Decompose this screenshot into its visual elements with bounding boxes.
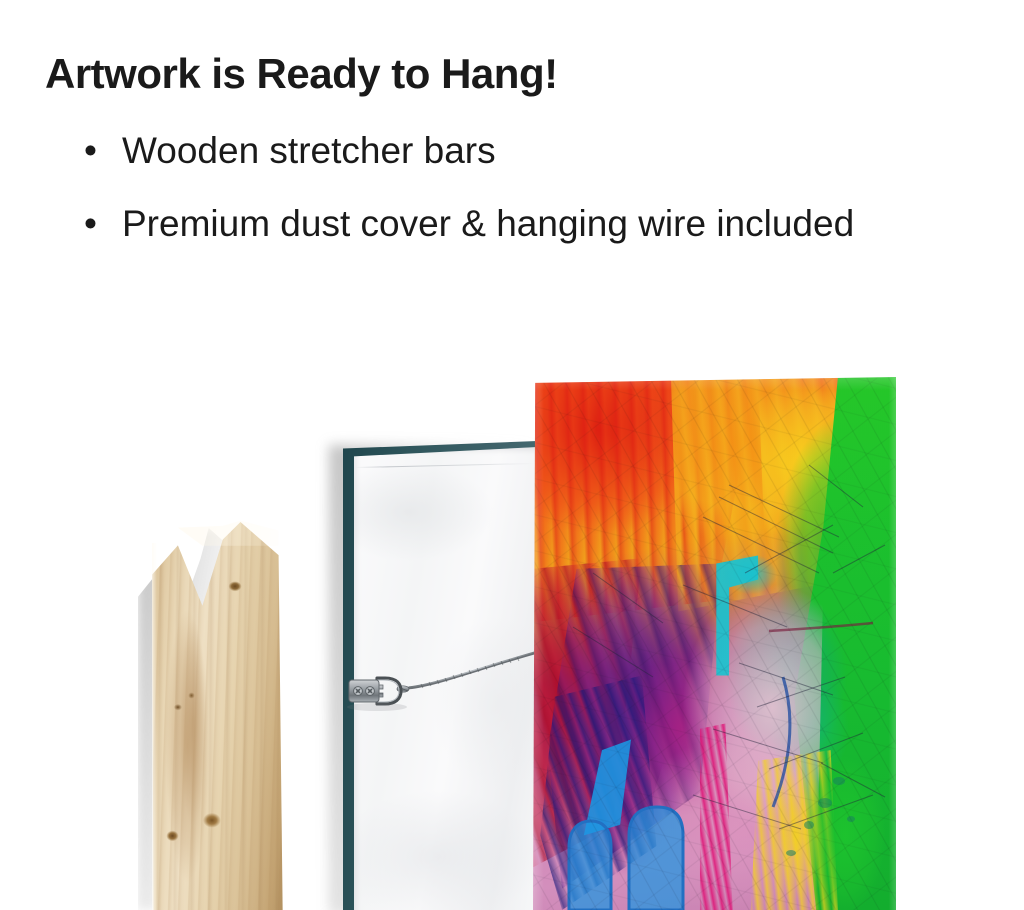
art-scribble-overlay [533, 377, 896, 910]
list-item-label: Premium dust cover & hanging wire includ… [122, 203, 854, 244]
canvas-artwork-image [533, 377, 896, 910]
hanger-shadow [347, 703, 407, 711]
list-item: • Premium dust cover & hanging wire incl… [80, 205, 854, 242]
bullet-icon: • [84, 132, 97, 169]
stretcher-bar-image [148, 520, 284, 910]
feature-list: • Wooden stretcher bars • Premium dust c… [80, 132, 854, 278]
d-ring [377, 678, 401, 704]
hanger-screw [366, 687, 375, 696]
bullet-icon: • [84, 205, 97, 242]
hanging-wire-highlight [409, 650, 542, 687]
d-ring-highlight [378, 680, 399, 702]
product-feature-panel: Artwork is Ready to Hang! • Wooden stret… [0, 0, 1024, 910]
list-item: • Wooden stretcher bars [80, 132, 854, 169]
hanger-screw [354, 687, 363, 696]
product-photo [0, 330, 1024, 910]
hanging-wire-assembly [337, 435, 537, 910]
page-title: Artwork is Ready to Hang! [45, 50, 558, 98]
stretcher-bar-body [148, 520, 284, 910]
dust-cover-image [337, 435, 537, 910]
list-item-label: Wooden stretcher bars [122, 130, 496, 171]
